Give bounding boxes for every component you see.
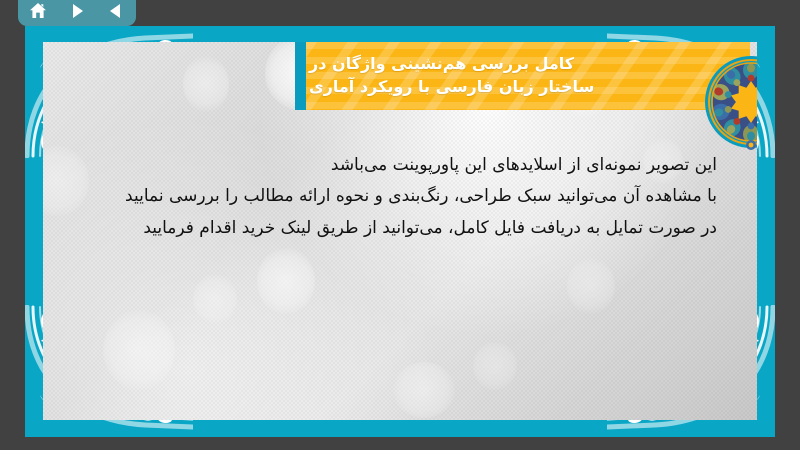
slide-canvas: کامل بررسی هم‌نشینی واژگان در ساختار زبا… [25, 26, 775, 437]
bokeh-blob [193, 274, 237, 324]
slide-content-area: کامل بررسی هم‌نشینی واژگان در ساختار زبا… [43, 42, 757, 420]
slide-body-text: این تصویر نمونه‌ای از اسلایدهای این پاور… [83, 150, 717, 244]
slide-navigation-bar [18, 0, 136, 26]
presentation-viewer: کامل بررسی هم‌نشینی واژگان در ساختار زبا… [0, 0, 800, 450]
home-slide-button[interactable] [25, 0, 51, 22]
title-line-2: ساختار زبان فارسی با رویکرد آماری [309, 76, 594, 99]
bokeh-blob [103, 310, 175, 390]
page-title: کامل بررسی هم‌نشینی واژگان در ساختار زبا… [295, 42, 750, 110]
triangle-right-icon [69, 3, 85, 19]
next-slide-button[interactable] [64, 0, 90, 22]
previous-slide-button[interactable] [103, 0, 129, 22]
bokeh-blob [393, 362, 455, 418]
persian-medallion-icon [703, 54, 757, 150]
title-line-1: کامل بررسی هم‌نشینی واژگان در [309, 53, 574, 76]
triangle-left-icon [108, 3, 124, 19]
bokeh-blob [567, 258, 615, 314]
bokeh-blob [473, 342, 517, 390]
slide-title-banner: کامل بررسی هم‌نشینی واژگان در ساختار زبا… [295, 42, 750, 110]
body-line-1: این تصویر نمونه‌ای از اسلایدهای این پاور… [83, 150, 717, 181]
body-line-2: با مشاهده آن می‌توانید سبک طراحی، رنگ‌بن… [83, 181, 717, 212]
bokeh-blob [183, 56, 229, 112]
bokeh-blob [257, 248, 315, 314]
home-icon [29, 2, 47, 20]
body-line-3: در صورت تمایل به دریافت فایل کامل، می‌تو… [83, 213, 717, 244]
